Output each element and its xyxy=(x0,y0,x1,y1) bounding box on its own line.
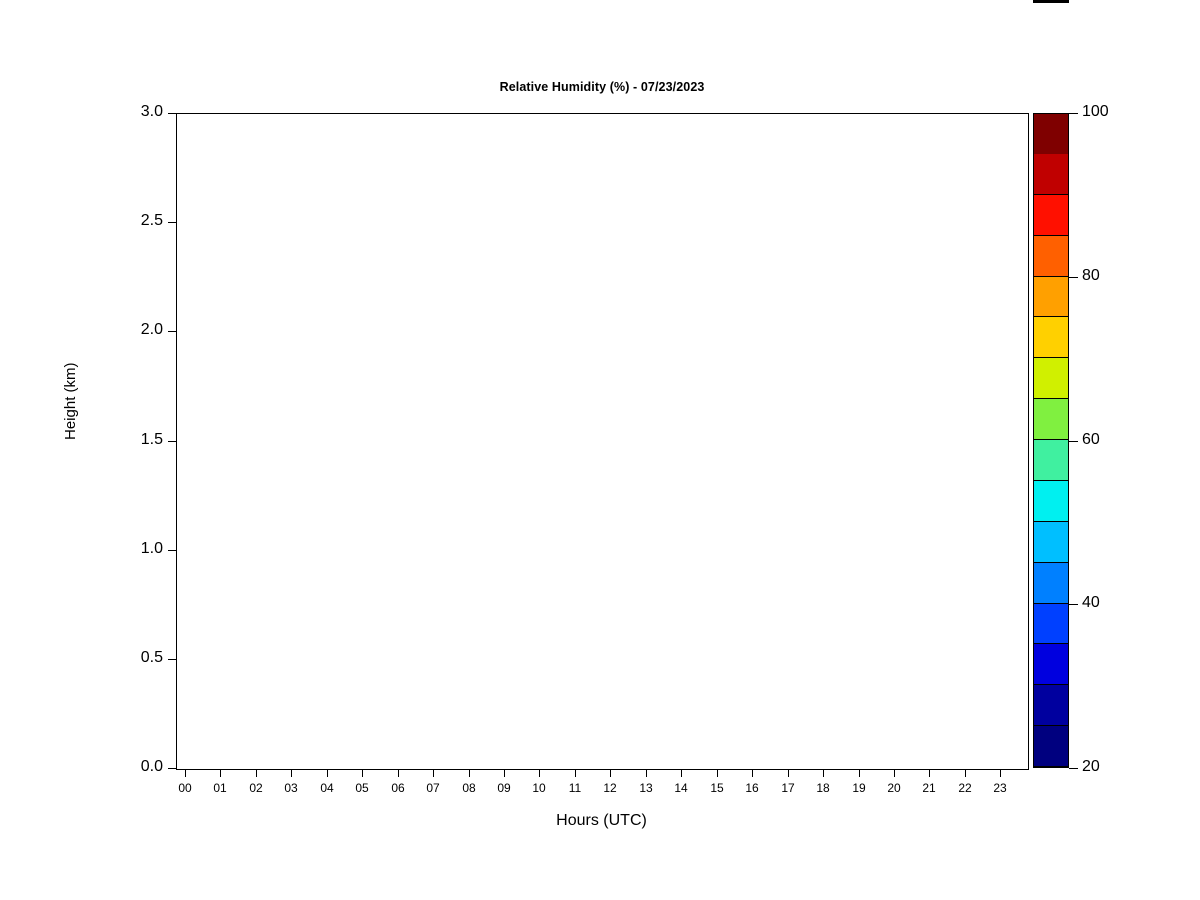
x-tick-mark xyxy=(504,769,505,777)
x-tick-mark xyxy=(291,769,292,777)
x-tick-label: 10 xyxy=(532,781,545,795)
x-tick-label: 14 xyxy=(674,781,687,795)
x-tick-mark xyxy=(398,769,399,777)
x-tick-mark xyxy=(646,769,647,777)
x-tick-label: 20 xyxy=(887,781,900,795)
x-tick-mark xyxy=(859,769,860,777)
x-tick-label: 07 xyxy=(426,781,439,795)
x-axis-label: Hours (UTC) xyxy=(176,812,1027,830)
colorbar-tick-label: 40 xyxy=(1082,594,1100,612)
colorbar-block xyxy=(1034,685,1068,726)
x-tick-mark xyxy=(469,769,470,777)
x-tick-mark xyxy=(1000,769,1001,777)
colorbar-block xyxy=(1034,522,1068,563)
x-tick-label: 05 xyxy=(355,781,368,795)
x-tick-label: 06 xyxy=(391,781,404,795)
colorbar-block xyxy=(1034,154,1068,195)
colorbar-block xyxy=(1034,644,1068,685)
x-tick-mark xyxy=(823,769,824,777)
colorbar-block xyxy=(1034,399,1068,440)
x-tick-label: 01 xyxy=(213,781,226,795)
x-tick-label: 02 xyxy=(249,781,262,795)
x-tick-label: 16 xyxy=(745,781,758,795)
colorbar-block xyxy=(1034,726,1068,767)
colorbar-block xyxy=(1034,114,1068,154)
top-edge-mark xyxy=(1033,0,1069,3)
x-tick-label: 22 xyxy=(958,781,971,795)
y-tick-label: 1.5 xyxy=(141,431,163,449)
x-tick-label: 23 xyxy=(993,781,1006,795)
y-axis-label: Height (km) xyxy=(62,362,79,440)
x-tick-mark xyxy=(752,769,753,777)
x-tick-label: 11 xyxy=(569,781,581,795)
x-tick-label: 21 xyxy=(922,781,935,795)
x-tick-label: 09 xyxy=(497,781,510,795)
y-tick-label: 0.5 xyxy=(141,649,163,667)
colorbar-tick-label: 20 xyxy=(1082,758,1100,776)
x-tick-mark xyxy=(433,769,434,777)
colorbar-tick-mark xyxy=(1069,441,1078,442)
x-tick-mark xyxy=(929,769,930,777)
x-tick-mark xyxy=(539,769,540,777)
colorbar-tick-label: 100 xyxy=(1082,103,1109,121)
heatmap-plot-area xyxy=(176,113,1029,770)
x-tick-label: 00 xyxy=(178,781,191,795)
y-tick-mark xyxy=(168,550,176,551)
y-tick-label: 0.0 xyxy=(141,758,163,776)
x-tick-mark xyxy=(327,769,328,777)
page-title: Relative Humidity (%) - 07/23/2023 xyxy=(176,80,1028,94)
colorbar-block xyxy=(1034,481,1068,522)
x-tick-mark xyxy=(894,769,895,777)
colorbar-tick-label: 60 xyxy=(1082,431,1100,449)
colorbar-tick-mark xyxy=(1069,604,1078,605)
x-tick-label: 08 xyxy=(462,781,475,795)
x-tick-mark xyxy=(575,769,576,777)
x-tick-label: 03 xyxy=(284,781,297,795)
y-tick-mark xyxy=(168,659,176,660)
x-tick-label: 13 xyxy=(639,781,652,795)
colorbar xyxy=(1033,113,1069,768)
colorbar-block xyxy=(1034,277,1068,318)
colorbar-tick-mark xyxy=(1069,113,1078,114)
x-tick-mark xyxy=(362,769,363,777)
y-tick-mark xyxy=(168,441,176,442)
x-tick-label: 15 xyxy=(710,781,723,795)
humidity-heatmap xyxy=(177,114,1028,769)
colorbar-block xyxy=(1034,358,1068,399)
x-tick-mark xyxy=(185,769,186,777)
y-tick-mark xyxy=(168,768,176,769)
x-tick-label: 18 xyxy=(816,781,829,795)
colorbar-block xyxy=(1034,440,1068,481)
y-tick-label: 2.0 xyxy=(141,321,163,339)
relative-humidity-time-height-figure: Relative Humidity (%) - 07/23/2023 0.00.… xyxy=(0,0,1200,900)
x-tick-label: 19 xyxy=(852,781,865,795)
x-tick-mark xyxy=(610,769,611,777)
colorbar-block xyxy=(1034,563,1068,604)
y-tick-label: 3.0 xyxy=(141,103,163,121)
colorbar-block xyxy=(1034,317,1068,358)
x-tick-mark xyxy=(220,769,221,777)
x-tick-mark xyxy=(788,769,789,777)
y-tick-mark xyxy=(168,331,176,332)
colorbar-block xyxy=(1034,236,1068,277)
x-tick-mark xyxy=(717,769,718,777)
colorbar-tick-mark xyxy=(1069,768,1078,769)
y-tick-mark xyxy=(168,113,176,114)
colorbar-block xyxy=(1034,195,1068,236)
x-tick-label: 12 xyxy=(603,781,616,795)
x-tick-mark xyxy=(681,769,682,777)
y-tick-label: 2.5 xyxy=(141,212,163,230)
colorbar-tick-label: 80 xyxy=(1082,267,1100,285)
x-tick-label: 04 xyxy=(320,781,333,795)
y-tick-label: 1.0 xyxy=(141,540,163,558)
colorbar-block xyxy=(1034,604,1068,645)
x-tick-mark xyxy=(965,769,966,777)
x-tick-label: 17 xyxy=(781,781,794,795)
colorbar-tick-mark xyxy=(1069,277,1078,278)
x-tick-mark xyxy=(256,769,257,777)
y-tick-mark xyxy=(168,222,176,223)
